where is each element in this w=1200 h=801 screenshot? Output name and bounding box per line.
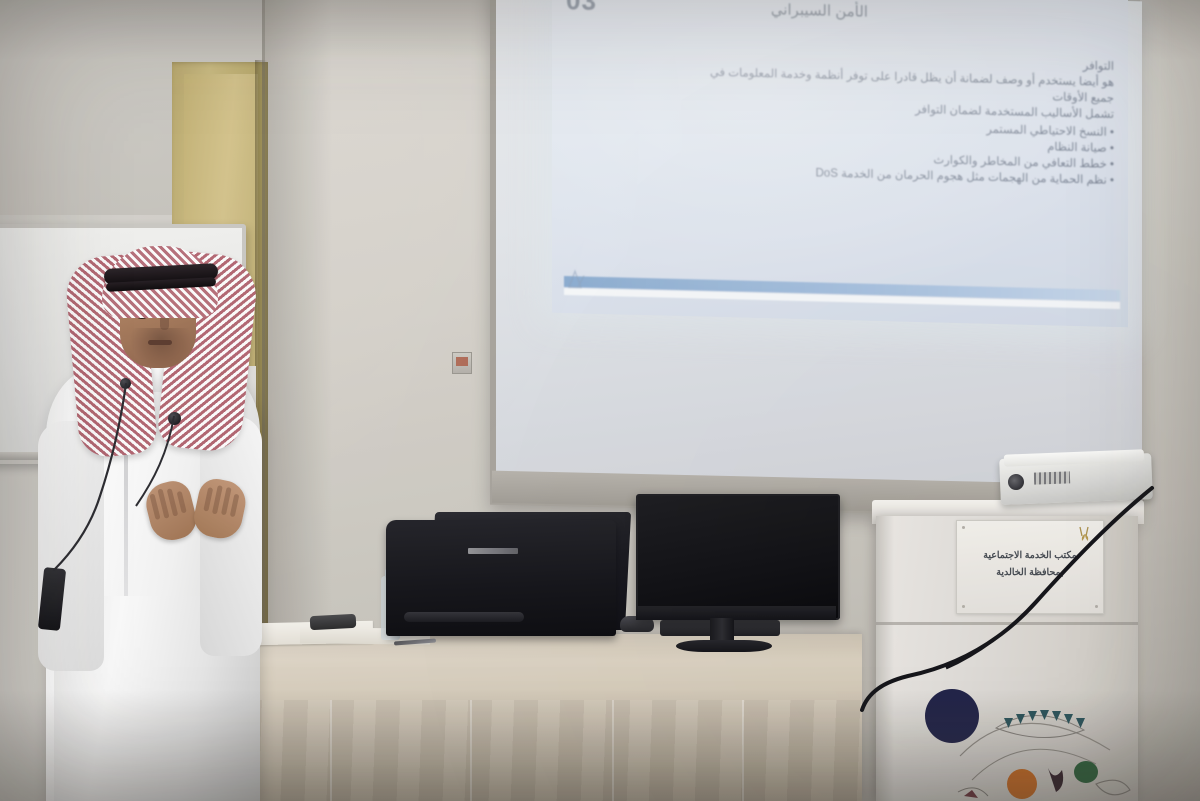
saudi-emblem-icon — [1075, 525, 1095, 543]
slide-body: التوافر هو أيضا يستخدم أو وصف لضمانة أن … — [604, 46, 1114, 189]
presenter-mouth — [148, 340, 172, 345]
slide-logo-icon — [566, 267, 592, 290]
plaque-line-2: بمحافظة الخالدية — [957, 564, 1103, 581]
monitor-bezel — [636, 606, 836, 620]
plaque-screw — [962, 526, 965, 529]
lapel-microphone — [120, 378, 131, 389]
monitor-stand-base — [676, 640, 772, 652]
plaque-screw — [1095, 605, 1098, 608]
laptop-bag-handle — [404, 612, 524, 622]
presentation-photo: 03 الأمن السيبراني التوافر هو أيضا يستخد… — [0, 0, 1200, 801]
lapel-microphone-secondary — [168, 412, 181, 425]
monitor — [636, 494, 840, 620]
wall-fixture — [452, 352, 472, 374]
slide-number: 03 — [566, 0, 597, 17]
lectern-shelf-line — [876, 622, 1138, 625]
slide-title: الأمن السيبراني — [771, 0, 868, 20]
presenter-sleeve-left — [38, 421, 104, 671]
projected-slide: 03 الأمن السيبراني التوافر هو أيضا يستخد… — [552, 0, 1128, 327]
projector-vent — [1034, 471, 1070, 484]
plaque-screw — [962, 605, 965, 608]
floor-shading — [0, 690, 1200, 801]
plaque-line-1: مكتب الخدمة الاجتماعية — [957, 547, 1103, 564]
lectern-plaque-text: مكتب الخدمة الاجتماعية بمحافظة الخالدية — [957, 547, 1103, 581]
slide-bullet-list: • النسخ الاحتياطي المستمر • صيانة النظام… — [604, 112, 1114, 189]
laptop-brand-badge — [468, 548, 518, 554]
presenter-remote — [310, 614, 357, 630]
lectern-plaque: مكتب الخدمة الاجتماعية بمحافظة الخالدية — [956, 520, 1104, 614]
slide-content: 03 الأمن السيبراني التوافر هو أيضا يستخد… — [552, 0, 1128, 327]
